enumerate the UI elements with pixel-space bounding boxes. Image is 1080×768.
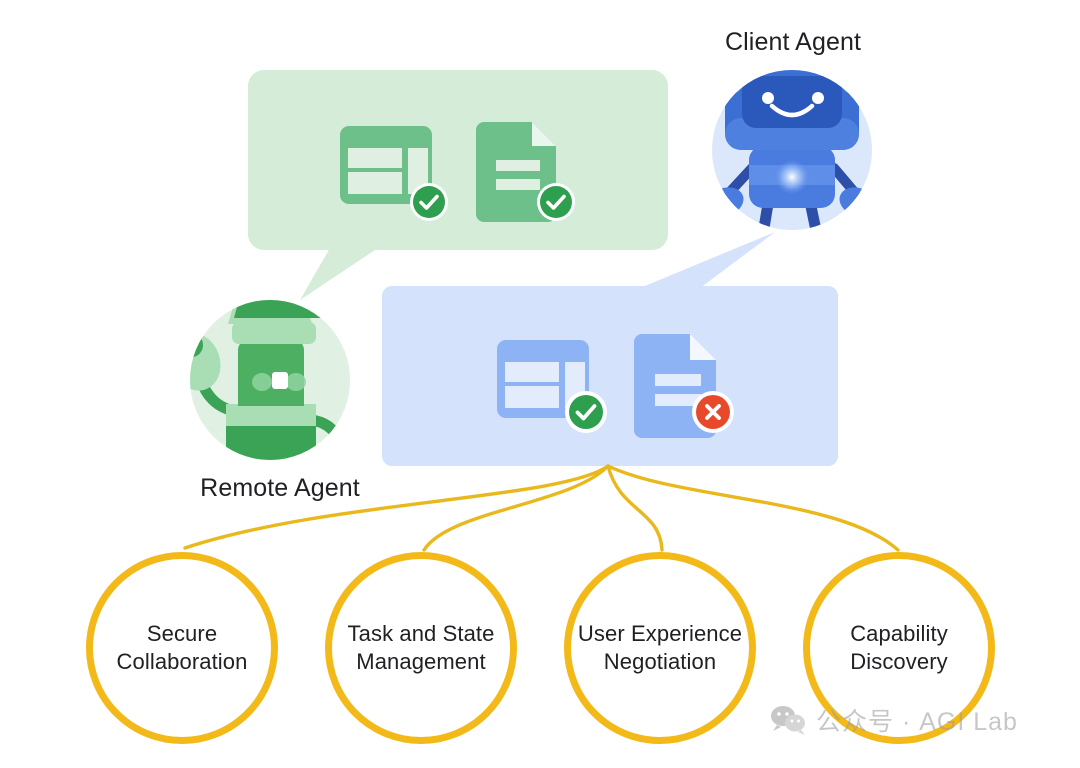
feature-label: Secure Collaboration [117,620,248,676]
watermark: 公众号 · AGI Lab [770,702,1018,738]
wechat-icon [770,705,806,735]
watermark-text: 公众号 · AGI Lab [816,702,1018,738]
check-badge-icon [537,183,575,221]
connector-line-3 [608,466,662,550]
feature-label: User Experience Negotiation [578,620,742,676]
feature-circle-secure-collaboration[interactable]: Secure Collaboration [86,552,278,744]
check-badge-icon [410,183,448,221]
check-badge-icon [565,391,607,433]
remote-agent-bubble [248,70,668,300]
feature-label: Capability Discovery [850,620,948,676]
feature-circle-task-and-state-management[interactable]: Task and State Management [325,552,517,744]
remote-agent-label: Remote Agent [190,474,370,503]
feature-label: Task and State Management [348,620,495,676]
x-badge-icon [692,391,734,433]
client-agent-label: Client Agent [703,28,883,57]
client-agent-bubble [382,232,838,466]
connector-line-4 [608,466,898,550]
feature-circle-user-experience-negotiation[interactable]: User Experience Negotiation [564,552,756,744]
diagram-canvas: Client Agent Remote Agent Secure Collabo… [0,0,1080,768]
client-agent-avatar [702,70,880,240]
